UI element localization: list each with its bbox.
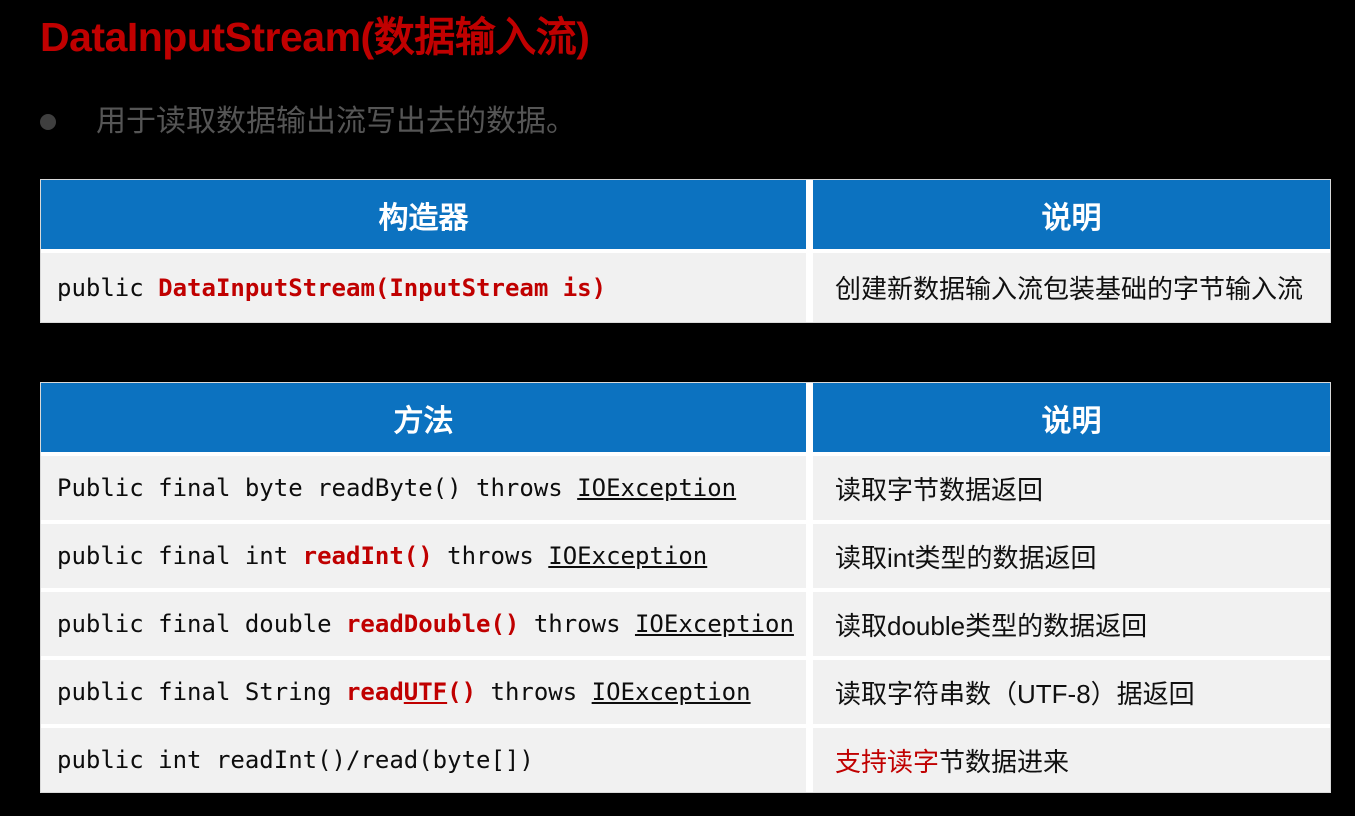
- code-highlight: read: [346, 678, 404, 706]
- column-divider: [806, 592, 813, 656]
- description-text: 读取int类型的数据返回: [835, 538, 1096, 575]
- header-cell-method: 方法: [41, 383, 806, 452]
- table-row: Public final byte readByte() throws IOEx…: [41, 452, 1330, 520]
- code-plain-mid: throws: [519, 610, 635, 638]
- column-divider: [806, 383, 813, 452]
- code-exception: IOException: [577, 474, 736, 502]
- code-plain-mid: throws: [476, 678, 592, 706]
- bullet-line: 用于读取数据输出流写出去的数据。: [40, 100, 576, 144]
- code-text: public final double readDouble() throws …: [57, 610, 794, 638]
- header-cell-constructor: 构造器: [41, 180, 806, 249]
- column-divider: [806, 253, 813, 322]
- description-text: 读取double类型的数据返回: [835, 606, 1147, 643]
- method-table: 方法 说明 Public final byte readByte() throw…: [40, 382, 1331, 793]
- code-highlight-underline: UTF: [404, 678, 447, 706]
- code-text: public int readInt()/read(byte[]): [57, 746, 534, 774]
- description-text: 创建新数据输入流包装基础的字节输入流: [835, 269, 1303, 306]
- bullet-text: 用于读取数据输出流写出去的数据。: [96, 102, 576, 142]
- method-description-cell: 支持读字节数据进来: [813, 728, 1330, 792]
- method-signature-cell: public final int readInt() throws IOExce…: [41, 524, 806, 588]
- description-plain: 读取字符串数（UTF-8）据返回: [835, 679, 1195, 709]
- column-divider: [806, 180, 813, 249]
- code-highlight-tail: (): [447, 678, 476, 706]
- description-text: 读取字符串数（UTF-8）据返回: [835, 674, 1195, 711]
- column-divider: [806, 660, 813, 724]
- constructor-description-cell: 创建新数据输入流包装基础的字节输入流: [813, 253, 1330, 322]
- method-description-cell: 读取字符串数（UTF-8）据返回: [813, 660, 1330, 724]
- code-text: public final int readInt() throws IOExce…: [57, 542, 707, 570]
- code-exception: IOException: [592, 678, 751, 706]
- code-highlight: DataInputStream(InputStream is): [158, 274, 606, 302]
- method-description-cell: 读取字节数据返回: [813, 456, 1330, 520]
- code-highlight: readInt(): [303, 542, 433, 570]
- table-header-row: 方法 说明: [41, 383, 1330, 452]
- description-text: 读取字节数据返回: [835, 470, 1043, 507]
- description-plain: 读取int类型的数据返回: [835, 543, 1096, 573]
- code-plain-mid: throws: [433, 542, 549, 570]
- code-plain: public final String: [57, 678, 346, 706]
- column-divider: [806, 728, 813, 792]
- code-text: Public final byte readByte() throws IOEx…: [57, 474, 736, 502]
- description-plain: 读取字节数据返回: [835, 475, 1043, 505]
- code-plain: public int readInt()/read(byte[]): [57, 746, 534, 774]
- table-row: public int readInt()/read(byte[]) 支持读字节数…: [41, 724, 1330, 792]
- description-plain: 读取double类型的数据返回: [835, 611, 1147, 641]
- method-description-cell: 读取double类型的数据返回: [813, 592, 1330, 656]
- table-row: public final int readInt() throws IOExce…: [41, 520, 1330, 588]
- code-plain: public: [57, 274, 158, 302]
- code-exception: IOException: [635, 610, 794, 638]
- method-description-cell: 读取int类型的数据返回: [813, 524, 1330, 588]
- method-signature-cell: public final String readUTF() throws IOE…: [41, 660, 806, 724]
- header-cell-description: 说明: [813, 180, 1330, 249]
- page-title: DataInputStream(数据输入流): [40, 8, 589, 66]
- header-cell-description: 说明: [813, 383, 1330, 452]
- method-signature-cell: public final double readDouble() throws …: [41, 592, 806, 656]
- code-plain: public final double: [57, 610, 346, 638]
- code-highlight: readDouble(): [346, 610, 519, 638]
- column-divider: [806, 524, 813, 588]
- method-signature-cell: public int readInt()/read(byte[]): [41, 728, 806, 792]
- table-row: public DataInputStream(InputStream is) 创…: [41, 249, 1330, 322]
- code-plain: Public final byte readByte() throws: [57, 474, 577, 502]
- bullet-dot-icon: [40, 114, 56, 130]
- description-plain: 节数据进来: [939, 747, 1069, 777]
- description-text: 支持读字节数据进来: [835, 742, 1069, 779]
- description-highlight: 支持读字: [835, 747, 939, 777]
- code-plain: public final int: [57, 542, 303, 570]
- table-row: public final String readUTF() throws IOE…: [41, 656, 1330, 724]
- column-divider: [806, 456, 813, 520]
- table-header-row: 构造器 说明: [41, 180, 1330, 249]
- table-row: public final double readDouble() throws …: [41, 588, 1330, 656]
- code-exception: IOException: [548, 542, 707, 570]
- method-signature-cell: Public final byte readByte() throws IOEx…: [41, 456, 806, 520]
- constructor-table: 构造器 说明 public DataInputStream(InputStrea…: [40, 179, 1331, 323]
- code-text: public final String readUTF() throws IOE…: [57, 678, 751, 706]
- constructor-signature-cell: public DataInputStream(InputStream is): [41, 253, 806, 322]
- code-text: public DataInputStream(InputStream is): [57, 274, 606, 302]
